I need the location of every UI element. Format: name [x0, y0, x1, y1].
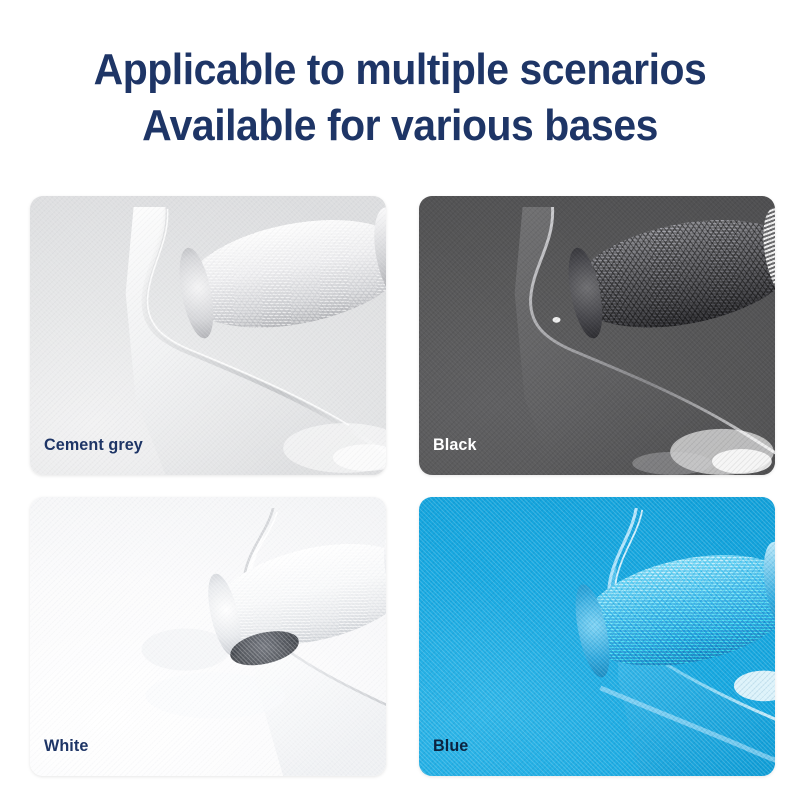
- scenario-panel-grid: Cement grey: [30, 196, 775, 776]
- panel-label-white: White: [44, 736, 88, 756]
- panel-label-black: Black: [433, 435, 477, 455]
- coating-scene-blue: [419, 497, 775, 776]
- scenario-panel-black[interactable]: Black: [419, 196, 775, 475]
- page-title-line-2: Available for various bases: [28, 98, 772, 154]
- panel-label-cement-grey: Cement grey: [44, 435, 143, 455]
- panel-label-blue: Blue: [433, 736, 468, 756]
- scenario-panel-white[interactable]: White: [30, 497, 386, 776]
- scenario-panel-cement-grey[interactable]: Cement grey: [30, 196, 386, 475]
- scenario-panel-blue[interactable]: Blue: [419, 497, 775, 776]
- coating-scene-black: [419, 196, 775, 475]
- coating-scene-white: [30, 497, 386, 776]
- page-title-line-1: Applicable to multiple scenarios: [28, 42, 772, 98]
- page-title: Applicable to multiple scenarios Availab…: [28, 42, 772, 154]
- coating-scene-cement-grey: [30, 196, 386, 475]
